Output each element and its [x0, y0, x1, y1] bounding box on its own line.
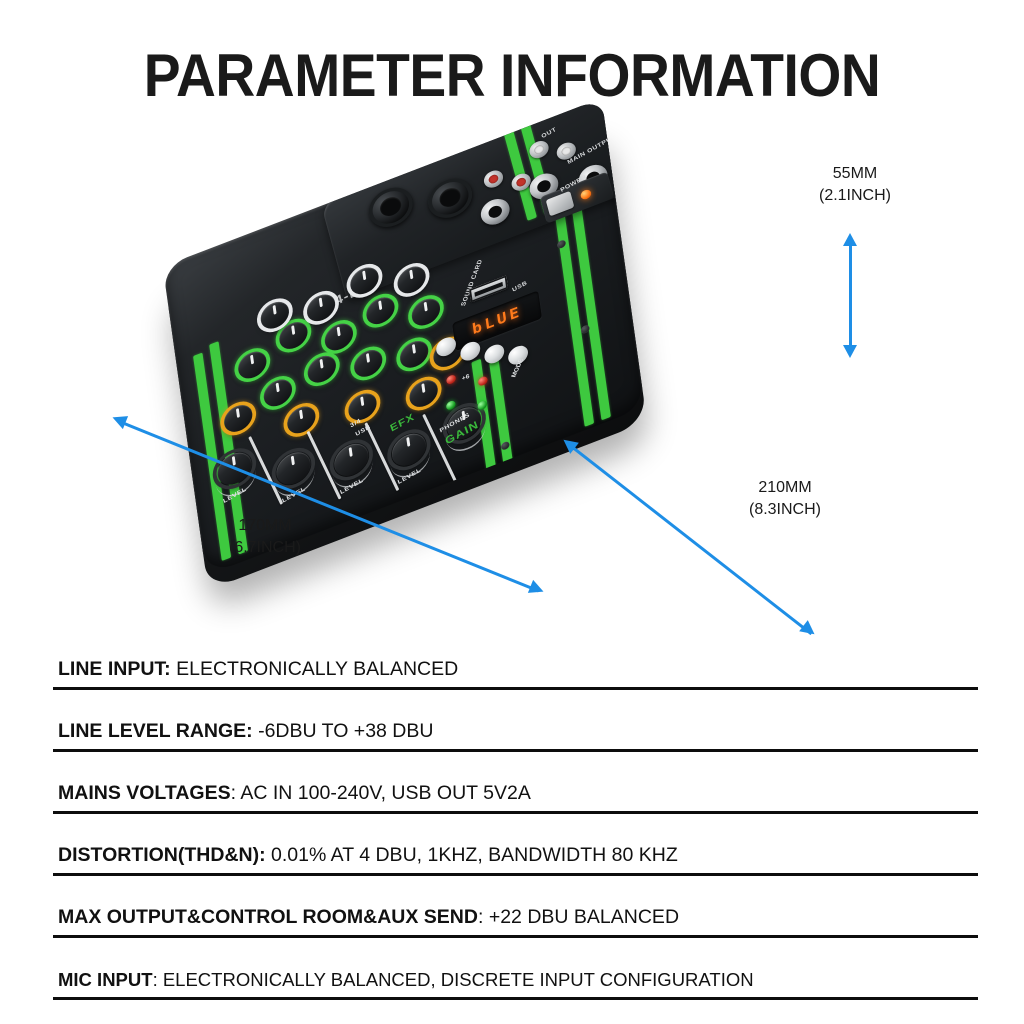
height-mm: 55MM	[770, 163, 940, 185]
aux-knob-orange[interactable]	[408, 376, 439, 411]
spec-row-mains-voltages: MAINS VOLTAGES: AC IN 100-240V, USB OUT …	[53, 752, 978, 814]
spec-value: ELECTRONICALLY BALANCED	[171, 658, 459, 680]
spec-text: MAX OUTPUT&CONTROL ROOM&AUX SEND: +22 DB…	[58, 906, 679, 929]
height-arrow-down	[843, 345, 857, 358]
depth-dimension-label: 210MM (8.3INCH)	[680, 477, 890, 521]
rca-input-left[interactable]	[482, 168, 505, 191]
spec-row-max-output: MAX OUTPUT&CONTROL ROOM&AUX SEND: +22 DB…	[53, 876, 978, 938]
spec-text: DISTORTION(THD&N): 0.01% AT 4 DBU, 1KHZ,…	[58, 844, 678, 867]
product-illustration: OUT MAIN OUTPUTS POWER 4-BT	[110, 125, 870, 625]
display-text: bLUE	[471, 303, 523, 338]
play-pause-button[interactable]	[483, 342, 505, 367]
eq-knob-green[interactable]	[323, 319, 354, 354]
depth-inch: (8.3INCH)	[680, 499, 890, 521]
spec-text: LINE LEVEL RANGE: -6DBU TO +38 DBU	[58, 720, 433, 743]
spec-value: 0.01% AT 4 DBU, 1KHZ, BANDWIDTH 80 KHZ	[266, 844, 678, 866]
page-title: PARAMETER INFORMATION	[41, 46, 983, 106]
spec-key: MAX OUTPUT&CONTROL ROOM&AUX SEND	[58, 906, 478, 928]
meter-plus6-label: +6	[462, 374, 470, 383]
meter-led-red	[446, 374, 456, 386]
depth-dimension-line	[570, 445, 812, 635]
spec-key: MIC INPUT	[58, 969, 153, 990]
spec-text: LINE INPUT: ELECTRONICALLY BALANCED	[58, 658, 458, 681]
specification-list: LINE INPUT: ELECTRONICALLY BALANCED LINE…	[53, 628, 978, 1000]
width-arrow-start	[110, 411, 128, 429]
parameter-information-page: PARAMETER INFORMATION	[0, 0, 1024, 1024]
spec-key: LINE LEVEL RANGE:	[58, 720, 253, 742]
depth-mm: 210MM	[680, 477, 890, 499]
spec-row-mic-input: MIC INPUT: ELECTRONICALLY BALANCED, DISC…	[53, 938, 978, 1000]
eq-knob-green[interactable]	[237, 347, 268, 382]
xlr-combo-jack-2[interactable]	[424, 172, 477, 224]
eq-knob-green[interactable]	[306, 352, 337, 387]
aux-knob-orange[interactable]	[286, 402, 317, 437]
spec-text: MAINS VOLTAGES: AC IN 100-240V, USB OUT …	[58, 782, 531, 805]
spec-key: LINE INPUT:	[58, 658, 171, 680]
power-led	[580, 188, 593, 200]
power-rocker[interactable]	[546, 191, 575, 217]
eq-knob-green[interactable]	[398, 337, 429, 372]
width-arrow-end	[528, 580, 546, 598]
spec-row-distortion: DISTORTION(THD&N): 0.01% AT 4 DBU, 1KHZ,…	[53, 814, 978, 876]
spec-value: : ELECTRONICALLY BALANCED, DISCRETE INPU…	[153, 969, 754, 990]
height-dimension-label: 55MM (2.1INCH)	[770, 163, 940, 207]
out-label: OUT	[541, 127, 558, 140]
spec-key: DISTORTION(THD&N):	[58, 844, 266, 866]
eq-knob-green[interactable]	[365, 293, 396, 328]
spec-value: : +22 DBU BALANCED	[478, 906, 679, 928]
spec-divider	[53, 997, 978, 1000]
width-dimension-label: 170MM (6.7INCH)	[160, 515, 370, 559]
spec-text: MIC INPUT: ELECTRONICALLY BALANCED, DISC…	[58, 969, 754, 991]
eq-knob-green[interactable]	[353, 346, 384, 381]
spec-value: : AC IN 100-240V, USB OUT 5V2A	[231, 782, 531, 804]
eq-knob-green[interactable]	[410, 295, 441, 330]
width-mm: 170MM	[160, 515, 370, 537]
height-arrow-up	[843, 233, 857, 246]
height-inch: (2.1INCH)	[770, 185, 940, 207]
width-inch: (6.7INCH)	[160, 537, 370, 559]
headphone-jack[interactable]	[478, 195, 512, 229]
usb-label: USB	[512, 280, 529, 293]
spec-value: -6DBU TO +38 DBU	[253, 720, 434, 742]
spec-row-line-input: LINE INPUT: ELECTRONICALLY BALANCED	[53, 628, 978, 690]
spec-row-line-level-range: LINE LEVEL RANGE: -6DBU TO +38 DBU	[53, 690, 978, 752]
spec-key: MAINS VOLTAGES	[58, 782, 231, 804]
gain-knob-white[interactable]	[305, 290, 336, 325]
height-dimension-line	[849, 243, 852, 351]
xlr-combo-jack-1[interactable]	[364, 181, 417, 233]
aux-knob-orange[interactable]	[347, 389, 378, 424]
eq-knob-green[interactable]	[262, 375, 293, 410]
